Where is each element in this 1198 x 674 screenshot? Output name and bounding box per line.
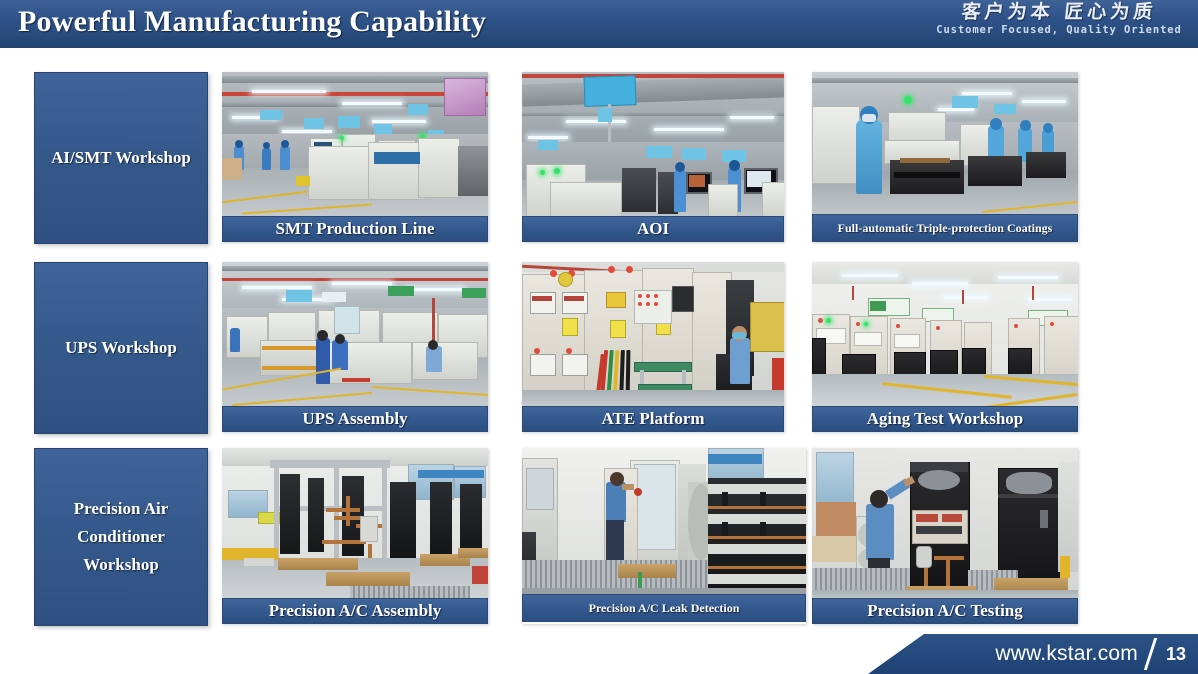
- caption-ups-assembly: UPS Assembly: [222, 406, 488, 432]
- workshop-row-ups: UPS Workshop: [0, 262, 1198, 432]
- caption-text: SMT Production Line: [275, 219, 434, 239]
- photo-triple-protection-coating-line: [812, 72, 1078, 214]
- caption-precision-ac-leak-detection: Precision A/C Leak Detection: [522, 594, 806, 622]
- page-title: Powerful Manufacturing Capability: [18, 5, 486, 39]
- photo-smt-production-line: [222, 72, 488, 216]
- slide-header: Powerful Manufacturing Capability 客户为本 匠…: [0, 0, 1198, 50]
- photo-card-precision-ac-leak-detection[interactable]: Precision A/C Leak Detection: [522, 448, 806, 624]
- slide-footer: www.kstar.com 13: [0, 632, 1198, 674]
- caption-smt-production-line: SMT Production Line: [222, 216, 488, 242]
- caption-aging-test-workshop: Aging Test Workshop: [812, 406, 1078, 432]
- workshop-row-precision-ac: Precision Air Conditioner Workshop: [0, 448, 1198, 624]
- caption-text: Aging Test Workshop: [867, 409, 1024, 429]
- photo-card-precision-ac-testing[interactable]: Precision A/C Testing: [812, 448, 1078, 624]
- photo-card-aoi[interactable]: AOI: [522, 72, 784, 242]
- caption-precision-ac-testing: Precision A/C Testing: [812, 598, 1078, 624]
- caption-text: AOI: [637, 219, 669, 239]
- photo-ate-test-platform: [522, 262, 784, 406]
- caption-text: UPS Assembly: [302, 409, 407, 429]
- caption-aoi: AOI: [522, 216, 784, 242]
- slogan-chinese: 客户为本 匠心为质: [933, 2, 1185, 23]
- caption-text: Precision A/C Leak Detection: [589, 601, 740, 616]
- caption-triple-protection-coatings: Full-automatic Triple-protection Coating…: [812, 214, 1078, 242]
- photo-ups-assembly-floor: [222, 262, 488, 406]
- photo-aging-test-room: [812, 262, 1078, 406]
- photo-card-aging-test-workshop[interactable]: Aging Test Workshop: [812, 262, 1078, 432]
- category-label: Precision Air Conditioner Workshop: [35, 495, 207, 579]
- slide-page-number: 13: [1166, 644, 1186, 665]
- caption-text: Precision A/C Assembly: [269, 601, 442, 621]
- photo-precision-ac-testing: [812, 448, 1078, 598]
- workshop-row-ai-smt: AI/SMT Workshop: [0, 72, 1198, 242]
- caption-text: ATE Platform: [601, 409, 704, 429]
- photo-card-triple-protection-coatings[interactable]: Full-automatic Triple-protection Coating…: [812, 72, 1078, 242]
- workshop-grid: AI/SMT Workshop: [0, 48, 1198, 628]
- caption-precision-ac-assembly: Precision A/C Assembly: [222, 598, 488, 624]
- photo-precision-ac-leak-detection: [522, 448, 806, 594]
- category-panel-ups[interactable]: UPS Workshop: [34, 262, 208, 434]
- caption-text: Full-automatic Triple-protection Coating…: [838, 221, 1053, 236]
- caption-ate-platform: ATE Platform: [522, 406, 784, 432]
- photo-card-smt-production-line[interactable]: SMT Production Line: [222, 72, 488, 242]
- category-label: UPS Workshop: [59, 334, 183, 362]
- category-panel-precision-ac[interactable]: Precision Air Conditioner Workshop: [34, 448, 208, 626]
- footer-website-link[interactable]: www.kstar.com: [995, 642, 1138, 666]
- caption-text: Precision A/C Testing: [867, 601, 1023, 621]
- photo-card-ate-platform[interactable]: ATE Platform: [522, 262, 784, 432]
- slogan-english: Customer Focused, Quality Oriented: [934, 24, 1184, 36]
- category-label: AI/SMT Workshop: [45, 144, 197, 172]
- photo-card-ups-assembly[interactable]: UPS Assembly: [222, 262, 488, 432]
- category-panel-ai-smt[interactable]: AI/SMT Workshop: [34, 72, 208, 244]
- photo-precision-ac-assembly: [222, 448, 488, 598]
- photo-aoi-inspection-area: [522, 72, 784, 216]
- photo-card-precision-ac-assembly[interactable]: Precision A/C Assembly: [222, 448, 488, 624]
- company-slogan: 客户为本 匠心为质 Customer Focused, Quality Orie…: [934, 2, 1184, 36]
